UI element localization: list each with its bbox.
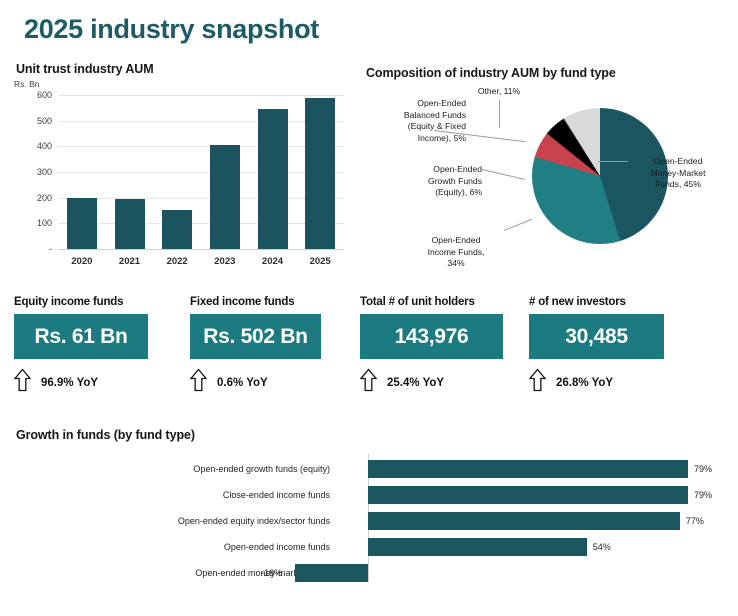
infographic-page: 2025 industry snapshot Unit trust indust… [0,0,738,616]
pie-label-money-line3: Funds, 45% [626,179,730,191]
growth-bar-label: Open-ended income funds [0,542,330,552]
kpi-trend-row: 25.4% YoY [360,368,503,397]
kpi-card-title: Fixed income funds [190,296,321,308]
pie-label-balanced: Open-Ended Balanced Funds (Equity & Fixe… [360,98,466,144]
kpi-card-title: Total # of unit holders [360,296,503,308]
leader-line-other [499,100,500,128]
y-axis-tick: 500 [14,116,52,126]
pie-label-balanced-line4: Income), 5% [360,133,466,145]
pie-label-money-line1: Open-Ended [626,156,730,168]
pie-label-money-line2: Money-Market [626,168,730,180]
y-axis-tick: 400 [14,141,52,151]
growth-in-funds-chart: Open-ended growth funds (equity)79%Close… [0,452,738,592]
pie-label-income-line1: Open-Ended [408,235,504,247]
grid-line [58,95,344,96]
aum-bar [258,109,288,249]
leader-line-income [504,219,532,231]
kpi-card: Total # of unit holders143,97625.4% YoY [360,296,503,397]
growth-bar [368,486,688,504]
kpi-value: Rs. 502 Bn [203,325,307,349]
aum-bar [67,198,97,249]
pie-label-growth-line2: Growth Funds [378,176,482,188]
x-axis-tick: 2020 [71,256,92,267]
pie-label-growth-line3: (Equity), 6% [378,187,482,199]
kpi-trend-row: 96.9% YoY [14,368,148,397]
arrow-up-icon [14,368,31,397]
growth-bar-label: Open-ended equity index/sector funds [0,516,330,526]
kpi-delta-label: 26.8% YoY [556,377,613,389]
kpi-card: # of new investors30,48526.8% YoY [529,296,664,397]
kpi-delta-label: 25.4% YoY [387,377,444,389]
kpi-value-box: Rs. 502 Bn [190,314,321,359]
kpi-delta-label: 0.6% YoY [217,377,268,389]
pie-label-balanced-line1: Open-Ended [360,98,466,110]
y-axis-tick: 600 [14,90,52,100]
grid-line [58,172,344,173]
growth-bar-value: 79% [694,490,712,500]
kpi-value: 30,485 [565,325,627,349]
pie-label-other: Other, 11% [453,86,545,98]
unit-trust-aum-chart: Rs. Bn -10020030040050060020202021202220… [14,85,344,275]
aum-bar [210,145,240,249]
y-axis-tick: 100 [14,218,52,228]
growth-bar [295,564,368,582]
kpi-value: Rs. 61 Bn [35,325,128,349]
x-axis-tick: 2022 [167,256,188,267]
aum-chart-title: Unit trust industry AUM [16,62,154,76]
kpi-value: 143,976 [395,325,469,349]
growth-bar-value: 77% [686,516,704,526]
kpi-value-box: 30,485 [529,314,664,359]
grid-line [58,121,344,122]
leader-line-growth [482,169,525,180]
aum-bar [305,98,335,249]
growth-bar [368,538,587,556]
kpi-card: Fixed income fundsRs. 502 Bn0.6% YoY [190,296,321,397]
pie-label-income-line3: 34% [408,258,504,270]
x-axis-tick: 2023 [214,256,235,267]
composition-pie-chart: Other, 11% Open-Ended Balanced Funds (Eq… [360,60,738,285]
pie-label-income: Open-Ended Income Funds, 34% [408,235,504,270]
growth-chart-title: Growth in funds (by fund type) [16,428,195,442]
y-axis-tick: 200 [14,193,52,203]
leader-line-money-market [598,161,628,162]
y-axis-tick: 300 [14,167,52,177]
pie-label-balanced-line3: (Equity & Fixed [360,121,466,133]
kpi-value-box: 143,976 [360,314,503,359]
page-title: 2025 industry snapshot [24,14,319,45]
pie-label-income-line2: Income Funds, [408,247,504,259]
axis-zero-line [58,249,344,250]
x-axis-tick: 2025 [310,256,331,267]
growth-bar [368,512,680,530]
growth-bar-value: 54% [593,542,611,552]
pie-label-money-market: Open-Ended Money-Market Funds, 45% [626,156,730,191]
arrow-up-icon [529,368,546,397]
grid-line [58,146,344,147]
kpi-card-title: # of new investors [529,296,664,308]
grid-line [58,223,344,224]
growth-bar [368,460,688,478]
kpi-trend-row: 26.8% YoY [529,368,664,397]
kpi-card: Equity income fundsRs. 61 Bn96.9% YoY [14,296,148,397]
kpi-card-title: Equity income funds [14,296,148,308]
growth-bar-label: Open-ended growth funds (equity) [0,464,330,474]
pie-label-balanced-line2: Balanced Funds [360,110,466,122]
grid-line [58,198,344,199]
kpi-delta-label: 96.9% YoY [41,377,98,389]
kpi-value-box: Rs. 61 Bn [14,314,148,359]
growth-bar-value: 79% [694,464,712,474]
growth-bar-value: -18% [261,568,282,578]
arrow-up-icon [360,368,377,397]
aum-bar [115,199,145,249]
x-axis-tick: 2024 [262,256,283,267]
kpi-trend-row: 0.6% YoY [190,368,321,397]
y-axis-tick: - [14,244,52,254]
x-axis-tick: 2021 [119,256,140,267]
growth-bar-label: Close-ended income funds [0,490,330,500]
pie-label-growth: Open-Ended Growth Funds (Equity), 6% [378,164,482,199]
y-axis-unit-label: Rs. Bn [14,79,40,89]
aum-bar [162,210,192,249]
pie-label-growth-line1: Open-Ended [378,164,482,176]
arrow-up-icon [190,368,207,397]
